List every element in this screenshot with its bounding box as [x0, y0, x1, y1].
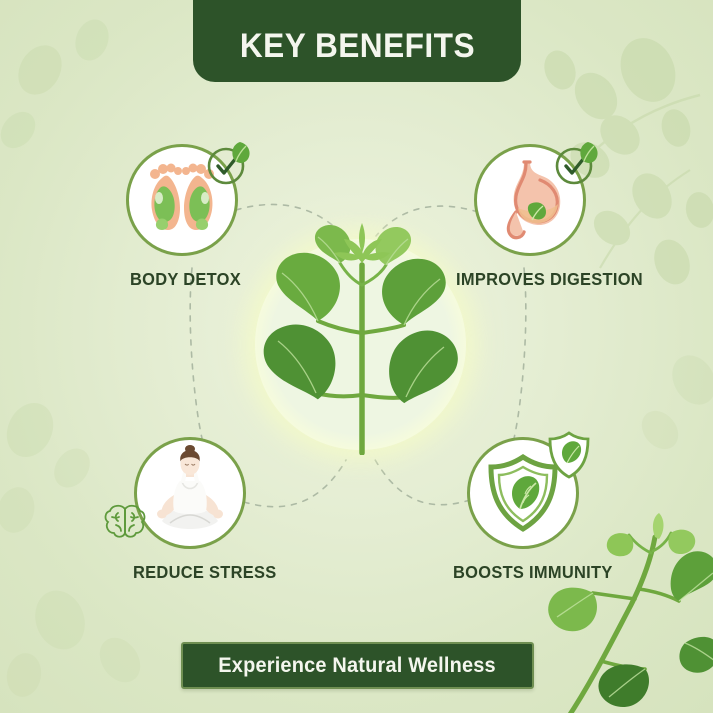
corner-leaf-plant	[539, 513, 713, 713]
check-leaf-badge-icon	[550, 136, 602, 188]
meditating-woman-icon	[134, 437, 246, 549]
benefit-improves-digestion[interactable]: IMPROVES DIGESTION	[474, 144, 684, 256]
benefit-label: REDUCE STRESS	[133, 562, 277, 583]
footer-cta-text: Experience Natural Wellness	[219, 654, 497, 678]
brain-icon	[102, 499, 148, 543]
check-leaf-badge-icon	[202, 136, 254, 188]
page-title: KEY BENEFITS	[239, 27, 474, 66]
footer-banner: Experience Natural Wellness	[181, 642, 534, 689]
benefit-icon-wrap	[126, 144, 238, 256]
benefit-label: BODY DETOX	[130, 269, 241, 290]
benefit-icon-wrap	[474, 144, 586, 256]
benefit-body-detox[interactable]: BODY DETOX	[126, 144, 336, 256]
infographic-canvas: KEY BENEFITS	[0, 0, 713, 713]
header-banner: KEY BENEFITS	[193, 0, 521, 82]
benefit-label: IMPROVES DIGESTION	[456, 269, 643, 290]
benefit-icon-wrap	[134, 437, 246, 549]
shield-leaf-badge-icon	[541, 425, 597, 483]
benefit-reduce-stress[interactable]: REDUCE STRESS	[134, 437, 344, 549]
